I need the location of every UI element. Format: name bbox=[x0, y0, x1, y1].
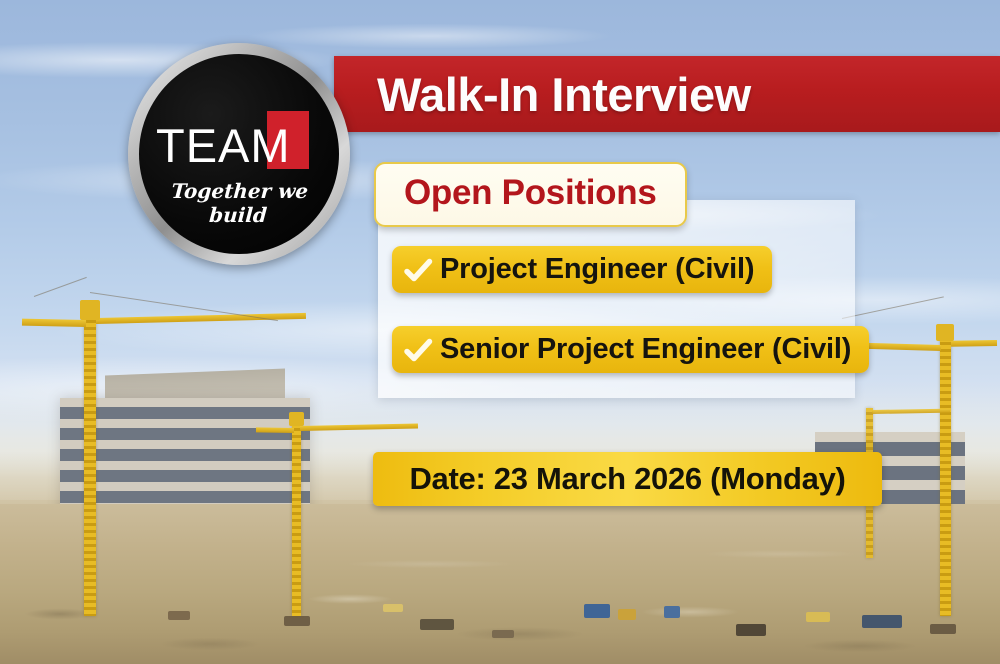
open-positions-heading: Open Positions bbox=[404, 173, 657, 213]
check-icon bbox=[402, 334, 434, 366]
logo-tagline: Together we build bbox=[149, 179, 328, 227]
site-vehicle bbox=[736, 624, 766, 636]
site-vehicle bbox=[383, 604, 403, 612]
tower-crane-cab bbox=[289, 412, 304, 426]
site-vehicle bbox=[420, 619, 454, 630]
site-vehicle bbox=[618, 609, 636, 620]
tower-crane-mast bbox=[84, 316, 96, 616]
tower-crane-counter-jib bbox=[951, 340, 997, 347]
logo-brand-name: TEAM bbox=[156, 122, 286, 169]
position-label: Senior Project Engineer (Civil) bbox=[440, 333, 851, 366]
poster-title: Walk-In Interview bbox=[377, 67, 751, 122]
tower-crane-cab bbox=[936, 324, 954, 341]
interview-date-box: Date: 23 March 2026 (Monday) bbox=[373, 452, 882, 506]
company-logo: TEAM Together we build bbox=[128, 43, 350, 265]
open-positions-heading-box: Open Positions bbox=[374, 162, 687, 227]
ground-rubble-texture bbox=[0, 494, 1000, 664]
tower-crane-cab bbox=[80, 300, 100, 320]
site-vehicle bbox=[664, 606, 680, 618]
header-banner: Walk-In Interview bbox=[334, 56, 1000, 132]
interview-date-text: Date: 23 March 2026 (Monday) bbox=[409, 461, 845, 497]
site-vehicle bbox=[584, 604, 610, 618]
site-vehicle bbox=[284, 616, 310, 626]
position-item: Senior Project Engineer (Civil) bbox=[392, 326, 869, 373]
tower-crane-counter-jib bbox=[22, 319, 86, 327]
site-vehicle bbox=[492, 630, 514, 638]
tower-crane-mast bbox=[292, 424, 301, 616]
poster-canvas: TEAM Together we build Walk-In Interview… bbox=[0, 0, 1000, 664]
site-vehicle bbox=[930, 624, 956, 634]
site-vehicle bbox=[806, 612, 830, 622]
position-item: Project Engineer (Civil) bbox=[392, 246, 772, 293]
tower-crane-counter-jib bbox=[256, 427, 294, 433]
site-vehicle bbox=[168, 611, 190, 620]
site-vehicle bbox=[862, 615, 902, 628]
tower-crane-mast bbox=[940, 338, 951, 616]
check-icon bbox=[402, 254, 434, 286]
logo-disc: TEAM Together we build bbox=[139, 54, 339, 254]
position-label: Project Engineer (Civil) bbox=[440, 253, 754, 286]
